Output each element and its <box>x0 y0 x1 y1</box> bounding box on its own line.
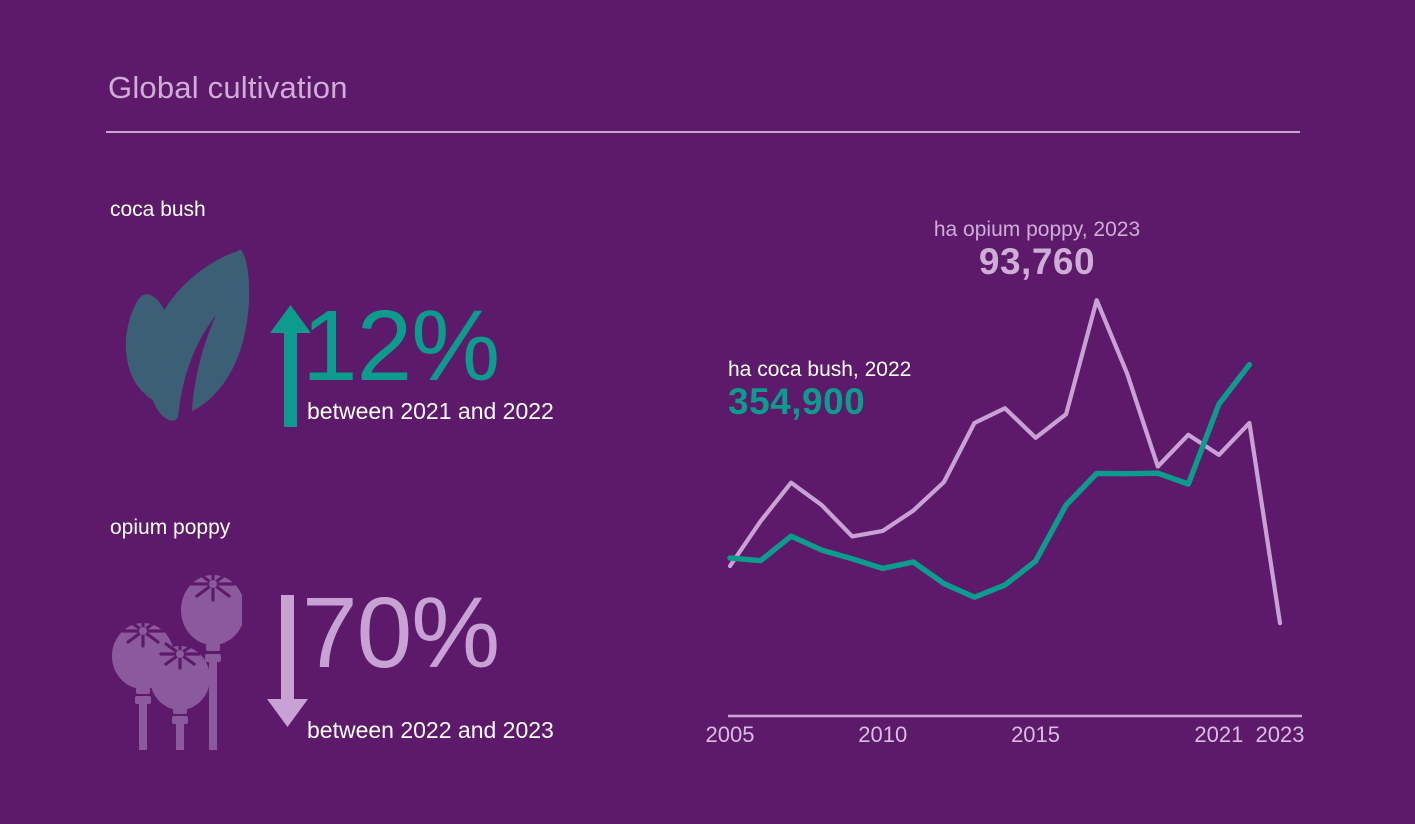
coca-period-label: between 2021 and 2022 <box>307 398 554 425</box>
coca-percent-change: 12% <box>302 296 499 396</box>
poppy-period-label: between 2022 and 2023 <box>307 717 554 744</box>
series-line-coca-bush <box>730 365 1249 598</box>
stat-block-opium-poppy: 70% between 2022 and 2023 <box>110 555 630 760</box>
title-divider <box>106 131 1300 133</box>
x-tick-2023: 2023 <box>1256 722 1305 748</box>
page-title: Global cultivation <box>108 70 348 106</box>
cultivation-trend-chart: ha opium poppy, 2023 93,760 ha coca bush… <box>700 200 1320 770</box>
x-tick-2010: 2010 <box>858 722 907 748</box>
stat-block-coca-bush: 12% between 2021 and 2022 <box>110 240 630 440</box>
x-tick-2021: 2021 <box>1194 722 1243 748</box>
section-label-opium-poppy: opium poppy <box>110 516 230 540</box>
opium-poppy-icon <box>110 560 242 752</box>
chart-plot-area <box>700 200 1320 770</box>
x-tick-2005: 2005 <box>706 722 755 748</box>
x-tick-2015: 2015 <box>1011 722 1060 748</box>
poppy-percent-change: 70% <box>302 583 499 683</box>
infographic-canvas: Global cultivation coca bush 12% between… <box>0 0 1415 824</box>
coca-leaf-icon <box>110 245 270 425</box>
section-label-coca-bush: coca bush <box>110 198 206 222</box>
